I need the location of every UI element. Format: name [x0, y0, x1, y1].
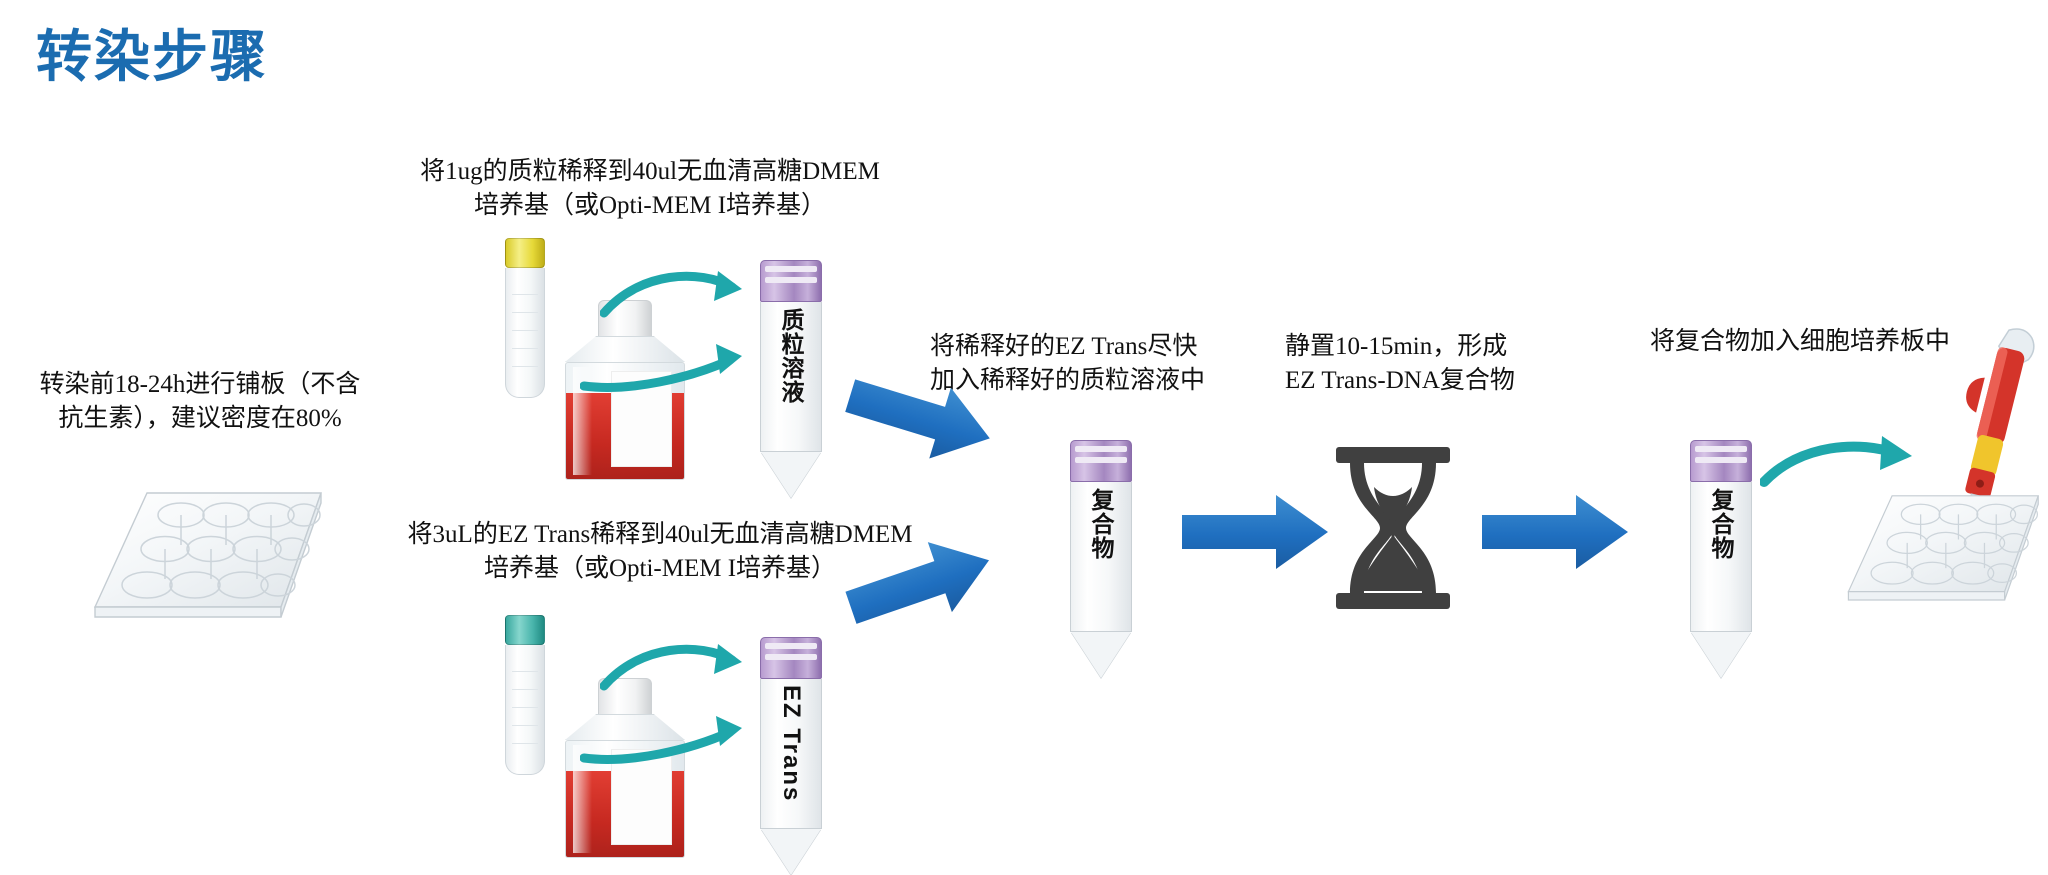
- step-caption-seeding: 转染前18-24h进行铺板（不含 抗生素），建议密度在80%: [0, 368, 400, 436]
- teal-curved-arrow-icon: [580, 712, 750, 777]
- tube-complex-2: 复合物: [1690, 440, 1752, 678]
- tube-label-complex-2: 复合物: [1704, 488, 1738, 560]
- step-caption-dilute-dna: 将1ug的质粒稀释到40ul无血清高糖DMEM 培养基（或Opti-MEM I培…: [330, 155, 970, 223]
- cell-culture-plate-icon: [1840, 480, 2048, 620]
- tube-label-eztrans: EZ Trans: [777, 685, 805, 802]
- tube-ez-trans: EZ Trans: [760, 637, 822, 875]
- blue-block-arrow-icon: [1180, 493, 1330, 571]
- tube-complex-1: 复合物: [1070, 440, 1132, 678]
- tube-label-complex-1: 复合物: [1084, 488, 1118, 560]
- step-caption-add-to-cells: 将复合物加入细胞培养板中: [1620, 325, 1980, 359]
- hourglass-icon: [1318, 443, 1468, 618]
- cryovial-icon: [505, 238, 545, 398]
- blue-block-arrow-icon: [1480, 493, 1630, 571]
- step-caption-incubate: 静置10-15min，形成 EZ Trans-DNA复合物: [1285, 330, 1575, 398]
- teal-curved-arrow-icon: [580, 340, 750, 405]
- teal-curved-arrow-icon: [600, 265, 750, 330]
- step-caption-combine: 将稀释好的EZ Trans尽快 加入稀释好的质粒溶液中: [930, 330, 1260, 398]
- page-title: 转染步骤: [36, 12, 268, 93]
- cell-culture-plate-icon: [85, 487, 335, 627]
- tube-label-plasmid: 质粒溶液: [774, 308, 808, 404]
- tube-plasmid-solution: 质粒溶液: [760, 260, 822, 498]
- teal-curved-arrow-icon: [600, 638, 750, 703]
- cryovial-icon: [505, 615, 545, 775]
